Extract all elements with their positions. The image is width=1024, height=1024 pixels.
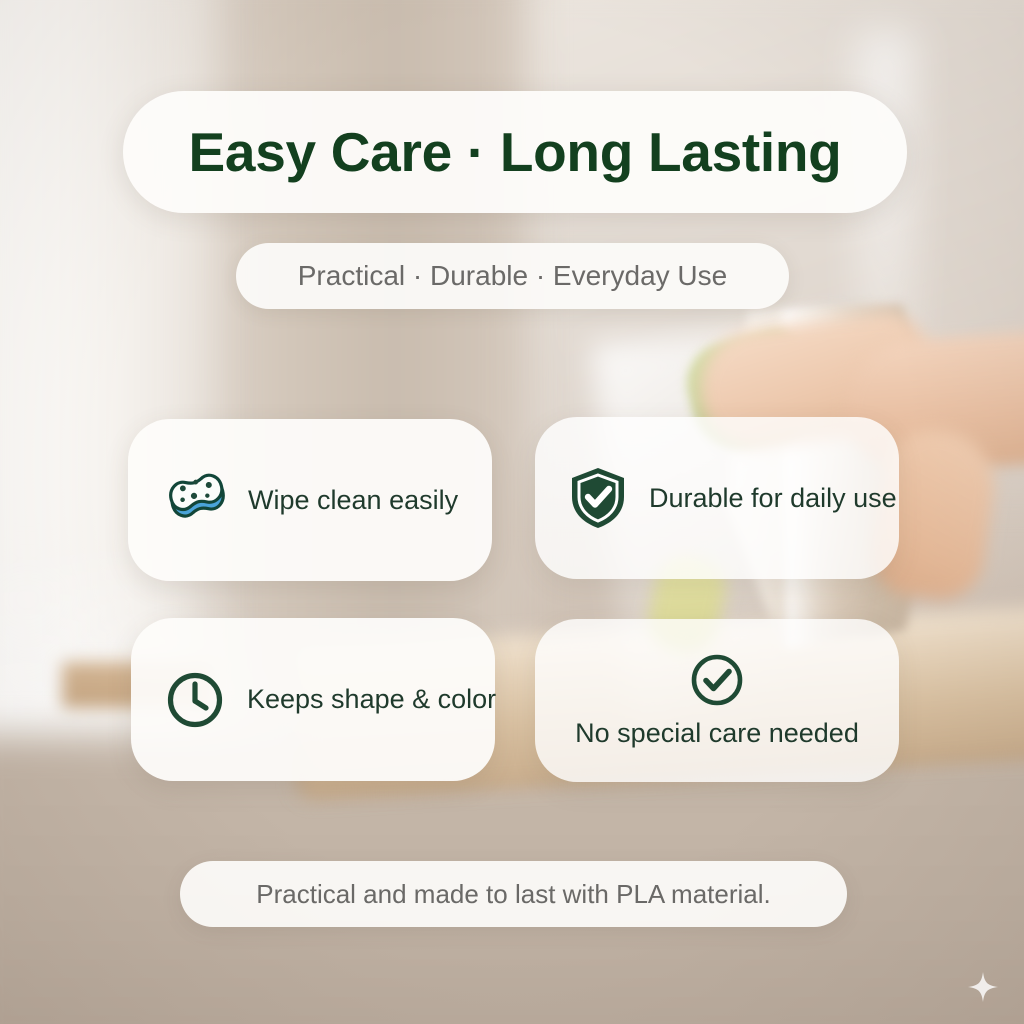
feature-label: No special care needed bbox=[575, 718, 859, 749]
footer-text: Practical and made to last with PLA mate… bbox=[256, 879, 770, 910]
promo-graphic: Easy Care · Long Lasting Practical · Dur… bbox=[0, 0, 1024, 1024]
page-title: Easy Care · Long Lasting bbox=[189, 120, 842, 184]
subtitle-pill: Practical · Durable · Everyday Use bbox=[236, 243, 789, 309]
feature-card-wipe-clean[interactable]: Wipe clean easily bbox=[128, 419, 492, 581]
sparkle-icon bbox=[968, 972, 998, 1002]
title-pill: Easy Care · Long Lasting bbox=[123, 91, 907, 213]
feature-card-no-special-care[interactable]: No special care needed bbox=[535, 619, 899, 782]
feature-card-durable[interactable]: Durable for daily use bbox=[535, 417, 899, 579]
shield-check-icon bbox=[569, 466, 627, 530]
page-subtitle: Practical · Durable · Everyday Use bbox=[298, 260, 727, 292]
sponge-icon bbox=[162, 470, 226, 530]
footer-pill: Practical and made to last with PLA mate… bbox=[180, 861, 847, 927]
feature-label: Keeps shape & color bbox=[247, 684, 496, 715]
check-circle-icon bbox=[689, 652, 745, 708]
feature-label: Wipe clean easily bbox=[248, 485, 458, 516]
feature-card-keeps-shape[interactable]: Keeps shape & color bbox=[131, 618, 495, 781]
overlay-content: Easy Care · Long Lasting Practical · Dur… bbox=[0, 0, 1024, 1024]
feature-label: Durable for daily use bbox=[649, 483, 897, 514]
clock-icon bbox=[165, 670, 225, 730]
